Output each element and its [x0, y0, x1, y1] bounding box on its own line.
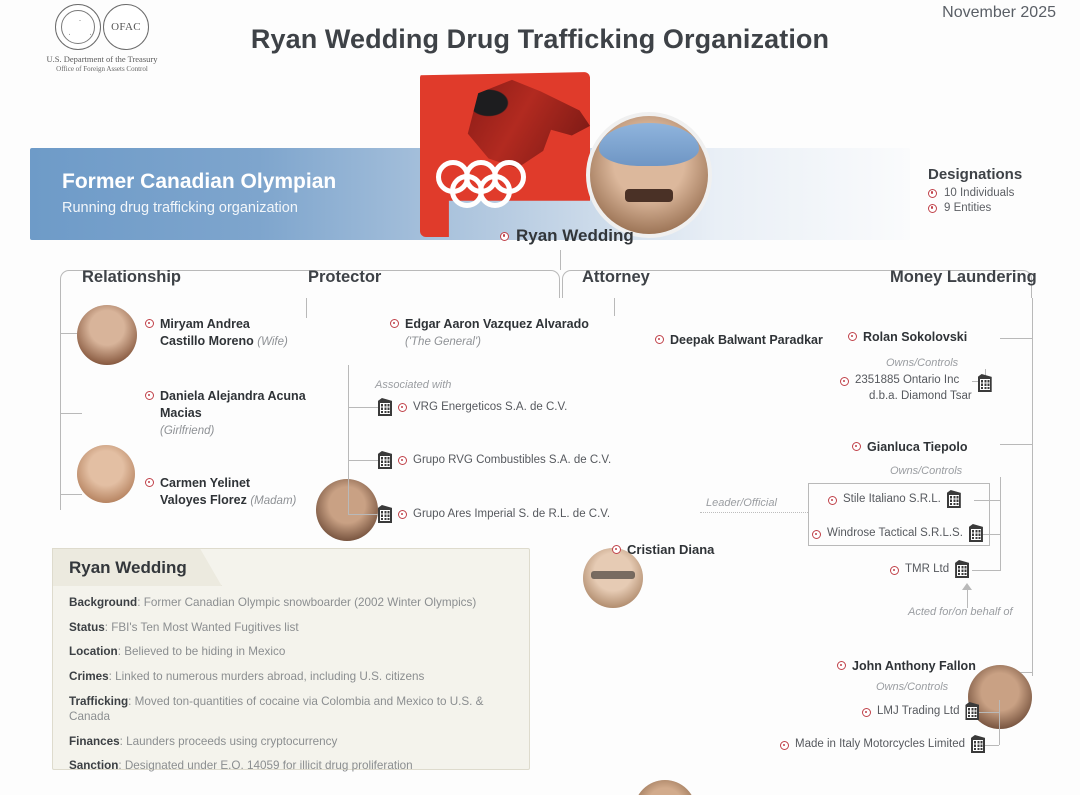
bullet-dot-icon	[840, 377, 849, 386]
building-icon	[378, 398, 392, 416]
node-carmen-valoyes: Carmen Yelinet Valoyes Florez (Madam)	[145, 475, 300, 509]
node-deepak-paradkar: Deepak Balwant Paradkar	[655, 332, 823, 349]
entity-label: 2351885 Ontario Inc d.b.a. Diamond Tsar	[855, 373, 972, 404]
bullet-dot-icon	[780, 741, 789, 750]
attorney-drop-line	[614, 298, 615, 316]
info-row-value: Moved ton-quantities of cocaine via Colo…	[69, 695, 483, 723]
agency-name-line2: Office of Foreign Assets Control	[22, 65, 182, 73]
node-rolan-sokolovski: Rolan Sokolovski	[848, 329, 967, 346]
info-row-label: Crimes	[69, 670, 109, 683]
building-icon	[965, 702, 979, 720]
bullet-dot-icon	[145, 391, 154, 400]
designation-entities: 9 Entities	[928, 202, 1022, 214]
info-card-tab: Ryan Wedding	[52, 548, 222, 586]
info-row-value: Believed to be hiding in Mexico	[124, 645, 285, 658]
entity-label: Made in Italy Motorcycles Limited	[795, 737, 965, 753]
info-card-body: Background: Former Canadian Olympic snow…	[69, 595, 515, 783]
building-icon	[955, 560, 969, 578]
person-alias: ('The General')	[405, 336, 481, 348]
protector-relation-note: Associated with	[375, 379, 451, 391]
bullet-dot-icon	[398, 403, 407, 412]
bullet-dot-icon	[862, 708, 871, 717]
tiepolo-relation-note: Owns/Controls	[890, 465, 962, 477]
info-row-value: Designated under E.O. 14059 for illicit …	[125, 759, 413, 772]
person-name: Miryam Andrea Castillo Moreno	[160, 317, 254, 348]
acted-for-note: Acted for/on behalf of	[908, 606, 1013, 618]
infographic-page: OFAC U.S. Department of the Treasury Off…	[0, 0, 1080, 795]
info-card-title: Ryan Wedding	[69, 558, 187, 578]
info-row-label: Status	[69, 621, 105, 634]
trunk-line	[560, 250, 561, 270]
column-header-attorney: Attorney	[582, 268, 650, 287]
date-label: November 2025	[942, 4, 1056, 22]
info-row-value: Launders proceeds using cryptocurrency	[126, 735, 337, 748]
bullet-dot-icon	[145, 319, 154, 328]
entity-label: Stile Italiano S.R.L.	[843, 492, 941, 508]
building-icon	[378, 451, 392, 469]
node-edgar-vazquez: Edgar Aaron Vazquez Alvarado ('The Gener…	[390, 316, 590, 350]
node-gianluca-tiepolo: Gianluca Tiepolo	[852, 439, 967, 456]
node-label: Gianluca Tiepolo	[867, 439, 967, 456]
central-node-label: Ryan Wedding	[516, 226, 634, 246]
column-header-money-laundering: Money Laundering	[890, 268, 1037, 287]
entity-label: LMJ Trading Ltd	[877, 704, 959, 720]
node-label: Deepak Balwant Paradkar	[670, 332, 823, 349]
designations-block: Designations 10 Individuals 9 Entities	[928, 166, 1022, 214]
page-title: Ryan Wedding Drug Trafficking Organizati…	[0, 24, 1080, 55]
entity-line-2: d.b.a. Diamond Tsar	[855, 390, 972, 402]
sokolovski-relation-note: Owns/Controls	[886, 357, 958, 369]
bullet-dot-icon	[928, 204, 937, 213]
node-grupo-ares: Grupo Ares Imperial S. de R.L. de C.V.	[378, 505, 610, 523]
bullet-dot-icon	[500, 232, 509, 241]
node-tmr-ltd: TMR Ltd	[890, 562, 969, 578]
avatar-edgar-vazquez	[316, 479, 378, 541]
bullet-dot-icon	[828, 496, 837, 505]
node-miryam-castillo: Miryam Andrea Castillo Moreno (Wife)	[145, 316, 297, 350]
building-icon	[978, 374, 992, 392]
node-stile-italiano: Stile Italiano S.R.L.	[828, 492, 961, 508]
node-grupo-rvg: Grupo RVG Combustibles S.A. de C.V.	[378, 451, 611, 469]
node-ontario-inc: 2351885 Ontario Inc d.b.a. Diamond Tsar	[840, 373, 992, 404]
info-row-value: FBI's Ten Most Wanted Fugitives list	[111, 621, 298, 634]
bullet-dot-icon	[398, 456, 407, 465]
entity-label: Grupo Ares Imperial S. de R.L. de C.V.	[413, 507, 610, 523]
entity-label: Grupo RVG Combustibles S.A. de C.V.	[413, 453, 611, 469]
info-card: Ryan Wedding Background: Former Canadian…	[52, 548, 530, 770]
protector-branch-3	[348, 514, 378, 515]
bullet-dot-icon	[848, 332, 857, 341]
designation-individuals: 10 Individuals	[928, 187, 1022, 199]
money-laundering-spine	[1032, 298, 1033, 676]
relationship-spine	[60, 298, 61, 510]
node-label: John Anthony Fallon	[852, 658, 976, 675]
designations-title: Designations	[928, 166, 1022, 183]
node-label: Edgar Aaron Vazquez Alvarado ('The Gener…	[405, 316, 589, 350]
protector-spine	[348, 365, 349, 515]
info-row: Finances: Launders proceeds using crypto…	[69, 734, 515, 749]
person-role: (Madam)	[250, 495, 296, 507]
node-vrg-energeticos: VRG Energeticos S.A. de C.V.	[378, 398, 567, 416]
fallon-spine	[999, 700, 1000, 745]
info-row-value: Former Canadian Olympic snowboarder (200…	[144, 596, 477, 609]
bullet-dot-icon	[390, 319, 399, 328]
banner-subtitle: Running drug trafficking organization	[62, 200, 298, 216]
building-icon	[971, 735, 985, 753]
info-row: Background: Former Canadian Olympic snow…	[69, 595, 515, 610]
bullet-dot-icon	[928, 189, 937, 198]
column-header-relationship: Relationship	[82, 268, 181, 287]
info-row: Sanction: Designated under E.O. 14059 fo…	[69, 758, 515, 773]
info-row-label: Background	[69, 596, 137, 609]
designation-entities-label: 9 Entities	[944, 202, 991, 214]
bullet-dot-icon	[655, 335, 664, 344]
avatar-miryam-castillo	[77, 305, 137, 365]
person-name: Edgar Aaron Vazquez Alvarado	[405, 317, 589, 331]
cristian-connector	[700, 512, 808, 513]
bullet-dot-icon	[890, 566, 899, 575]
entity-line-1: 2351885 Ontario Inc	[855, 374, 959, 386]
info-row: Location: Believed to be hiding in Mexic…	[69, 644, 515, 659]
acted-for-arrow-head-icon	[962, 583, 972, 590]
entity-label: VRG Energeticos S.A. de C.V.	[413, 400, 567, 416]
info-row-label: Location	[69, 645, 118, 658]
entity-label: Windrose Tactical S.R.L.S.	[827, 526, 963, 542]
tiepolo-spine	[1000, 477, 1001, 571]
relationship-branch-2	[60, 413, 82, 414]
node-lmj-trading: LMJ Trading Ltd	[862, 704, 979, 720]
column-header-protector: Protector	[308, 268, 381, 287]
bullet-dot-icon	[852, 442, 861, 451]
node-label: Rolan Sokolovski	[863, 329, 967, 346]
node-made-in-italy-motorcycles: Made in Italy Motorcycles Limited	[780, 737, 985, 753]
info-row-label: Sanction	[69, 759, 118, 772]
avatar-daniela-acuna	[77, 445, 135, 503]
info-row: Trafficking: Moved ton-quantities of coc…	[69, 694, 515, 724]
cristian-relation-note: Leader/Official	[706, 497, 777, 509]
person-name: Carmen Yelinet Valoyes Florez	[160, 476, 250, 507]
ml-branch-sokolovski	[1000, 338, 1032, 339]
entity-label: TMR Ltd	[905, 562, 949, 578]
avatar-ryan-wedding	[586, 112, 712, 238]
info-row-label: Finances	[69, 735, 120, 748]
tiepolo-branch-3	[972, 570, 1000, 571]
node-windrose-tactical: Windrose Tactical S.R.L.S.	[812, 526, 983, 542]
info-row-label: Trafficking	[69, 695, 128, 708]
bullet-dot-icon	[837, 661, 846, 670]
olympic-flag-graphic	[420, 72, 590, 237]
info-row: Status: FBI's Ten Most Wanted Fugitives …	[69, 620, 515, 635]
person-role: (Wife)	[257, 336, 288, 348]
person-name: Daniela Alejandra Acuna Macias	[160, 389, 306, 420]
olympic-rings-icon	[436, 160, 552, 212]
node-label: Cristian Diana	[627, 541, 714, 559]
agency-name-line1: U.S. Department of the Treasury	[22, 54, 182, 64]
protector-branch-2	[348, 460, 378, 461]
info-row: Crimes: Linked to numerous murders abroa…	[69, 669, 515, 684]
banner-title: Former Canadian Olympian	[62, 170, 336, 194]
protector-branch-1	[348, 407, 378, 408]
tiepolo-branch-1	[974, 500, 1000, 501]
bullet-dot-icon	[812, 530, 821, 539]
building-icon	[969, 524, 983, 542]
node-label: Miryam Andrea Castillo Moreno (Wife)	[160, 316, 297, 350]
avatar-cristian-diana	[634, 780, 696, 795]
node-john-fallon: John Anthony Fallon	[837, 658, 976, 675]
designation-individuals-label: 10 Individuals	[944, 187, 1014, 199]
ml-branch-tiepolo	[1000, 444, 1032, 445]
person-role: (Girlfriend)	[160, 425, 214, 437]
node-label: Daniela Alejandra Acuna Macias (Girlfrie…	[160, 388, 310, 439]
node-cristian-diana: Cristian Diana	[612, 541, 714, 559]
node-daniela-acuna: Daniela Alejandra Acuna Macias (Girlfrie…	[145, 388, 310, 439]
fallon-relation-note: Owns/Controls	[876, 681, 948, 693]
node-label: Carmen Yelinet Valoyes Florez (Madam)	[160, 475, 300, 509]
info-row-value: Linked to numerous murders abroad, inclu…	[115, 670, 424, 683]
building-icon	[378, 505, 392, 523]
protector-drop-line	[306, 298, 307, 318]
bullet-dot-icon	[398, 510, 407, 519]
bullet-dot-icon	[612, 545, 621, 554]
building-icon	[947, 490, 961, 508]
bullet-dot-icon	[145, 478, 154, 487]
central-node-ryan-wedding: Ryan Wedding	[500, 226, 634, 246]
